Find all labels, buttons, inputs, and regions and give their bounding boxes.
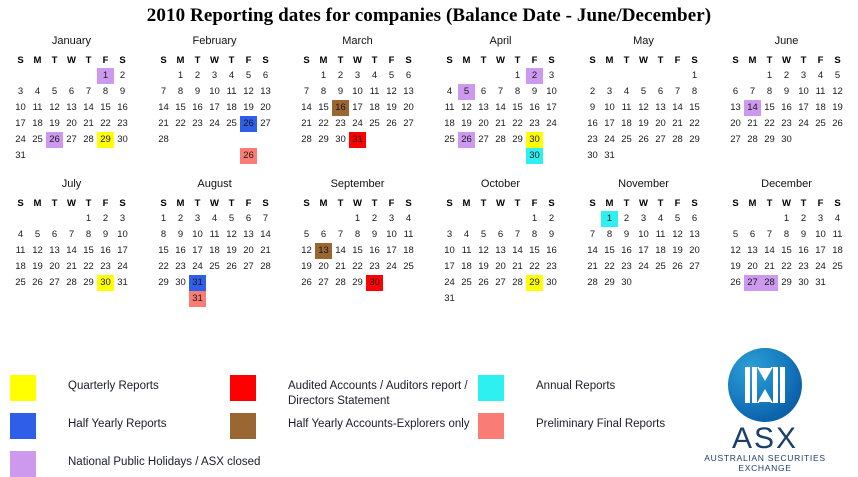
day-cell: 15: [761, 100, 778, 116]
day-cell: 22: [526, 259, 543, 275]
day-cell: 12: [727, 243, 744, 259]
legend-swatch-quarterly-icon: [10, 375, 36, 401]
day-cell: 20: [315, 259, 332, 275]
weekday-header: T: [332, 53, 349, 68]
day-cell: 29: [686, 132, 703, 148]
day-cell: 6: [652, 84, 669, 100]
day-cell: 20: [744, 259, 761, 275]
day-cell: 19: [223, 243, 240, 259]
empty-cell: [240, 275, 257, 291]
week-row: 18192021222324: [441, 116, 560, 132]
week-row: 123: [12, 211, 131, 227]
weekday-header: T: [652, 196, 669, 211]
day-cell: 18: [618, 116, 635, 132]
weekday-header-row: SMTWTFS: [727, 196, 846, 211]
day-cell: 2: [584, 84, 601, 100]
day-cell: 31: [12, 148, 29, 164]
legend-item-holidays: National Public Holidays / ASX closed: [10, 451, 260, 477]
day-cell: 12: [829, 84, 846, 100]
weekday-header: T: [332, 196, 349, 211]
day-cell: 18: [652, 243, 669, 259]
day-cell: 2: [172, 211, 189, 227]
weekday-header-row: SMTWTFS: [584, 53, 703, 68]
day-cell: 26: [298, 275, 315, 291]
day-cell: 24: [206, 116, 223, 132]
day-cell: 8: [509, 84, 526, 100]
empty-cell: [601, 68, 618, 84]
week-row: 78910111213: [298, 84, 417, 100]
empty-cell: [172, 291, 189, 307]
day-cell: 9: [114, 84, 131, 100]
empty-cell: [223, 275, 240, 291]
empty-cell: [744, 211, 761, 227]
legend-item-explorers: Half Yearly Accounts-Explorers only: [230, 413, 470, 439]
empty-cell: [526, 291, 543, 307]
day-cell: 1: [778, 211, 795, 227]
weekday-header: W: [349, 53, 366, 68]
month-name: May: [572, 35, 715, 48]
day-cell: 11: [441, 100, 458, 116]
weekday-header: S: [543, 196, 560, 211]
week-row: 1234: [298, 211, 417, 227]
week-row: 282930: [584, 275, 703, 291]
weekday-header: T: [223, 53, 240, 68]
weekday-header-row: SMTWTFS: [298, 53, 417, 68]
day-cell: 24: [812, 259, 829, 275]
weekday-header: T: [761, 53, 778, 68]
empty-cell: [475, 148, 492, 164]
day-cell: 11: [12, 243, 29, 259]
day-cell: 20: [686, 243, 703, 259]
asx-circle-icon: [728, 348, 802, 422]
weekday-header: T: [46, 53, 63, 68]
day-cell: 21: [332, 259, 349, 275]
legend-label-half-yearly: Half Yearly Reports: [68, 413, 166, 432]
day-cell: 24: [635, 259, 652, 275]
day-cell: 16: [97, 243, 114, 259]
day-cell: 31: [601, 148, 618, 164]
day-cell: 21: [492, 116, 509, 132]
week-row: 31: [441, 291, 560, 307]
day-cell: 5: [46, 84, 63, 100]
day-cell: 30: [778, 132, 795, 148]
empty-cell: [206, 132, 223, 148]
day-cell: 10: [441, 243, 458, 259]
legend-item-audited: Audited Accounts / Auditors report / Dir…: [230, 375, 468, 409]
week-row: 18192021222324: [12, 259, 131, 275]
weekday-header: M: [29, 53, 46, 68]
day-cell: 28: [669, 132, 686, 148]
week-row: 14151617181920: [584, 243, 703, 259]
day-cell: 4: [441, 84, 458, 100]
week-row: 10111213141516: [441, 243, 560, 259]
day-cell: 16: [114, 100, 131, 116]
legend-swatch-holidays-icon: [10, 451, 36, 477]
day-cell: 28: [509, 275, 526, 291]
day-cell-highlighted: 30: [97, 275, 114, 291]
day-cell: 6: [744, 227, 761, 243]
month-table: SMTWTFS 12345678910111213141516171819202…: [584, 196, 703, 291]
day-cell: 26: [383, 116, 400, 132]
empty-cell: [298, 211, 315, 227]
day-cell: 14: [492, 100, 509, 116]
page-title: 2010 Reporting dates for companies (Bala…: [0, 0, 858, 27]
day-cell: 29: [601, 275, 618, 291]
weekday-header: T: [652, 53, 669, 68]
annotation-row: 31: [155, 291, 274, 307]
day-cell: 28: [298, 132, 315, 148]
week-row: 21222324252627: [584, 259, 703, 275]
day-cell: 24: [189, 259, 206, 275]
week-row: 123: [441, 68, 560, 84]
calendar-row-first-half: JanuarySMTWTFS 1234567891011121314151617…: [0, 35, 858, 164]
day-cell: 27: [63, 132, 80, 148]
day-cell: 19: [475, 259, 492, 275]
day-cell: 19: [240, 100, 257, 116]
empty-cell: [618, 148, 635, 164]
day-cell: 23: [526, 116, 543, 132]
week-row: 24252627282930: [12, 132, 131, 148]
day-cell: 13: [744, 243, 761, 259]
day-cell: 14: [298, 100, 315, 116]
day-cell-highlighted: 26: [240, 116, 257, 132]
day-cell: 8: [761, 84, 778, 100]
day-cell: 4: [458, 227, 475, 243]
day-cell: 16: [526, 100, 543, 116]
month-table: SMTWTFS123456789101112131415161718192021…: [155, 196, 274, 307]
day-cell: 23: [97, 259, 114, 275]
empty-cell: [155, 68, 172, 84]
day-cell: 5: [298, 227, 315, 243]
week-row: 24252627282930: [441, 275, 560, 291]
day-cell-highlighted: 30: [526, 132, 543, 148]
day-cell: 9: [526, 84, 543, 100]
day-cell: 10: [114, 227, 131, 243]
week-row: 14151617181920: [155, 100, 274, 116]
day-cell: 22: [601, 259, 618, 275]
month-table: SMTWTFS 12345678910111213141516171819202…: [584, 53, 703, 164]
week-row: 3456789: [12, 84, 131, 100]
legend-item-annual: Annual Reports: [478, 375, 615, 401]
day-cell: 23: [795, 259, 812, 275]
day-cell: 12: [223, 227, 240, 243]
day-cell: 19: [727, 259, 744, 275]
day-cell: 26: [727, 275, 744, 291]
day-cell: 22: [686, 116, 703, 132]
empty-cell: [584, 68, 601, 84]
day-cell: 31: [114, 275, 131, 291]
weekday-header: S: [400, 196, 417, 211]
empty-cell: [618, 68, 635, 84]
day-cell: 24: [543, 116, 560, 132]
day-cell: 11: [829, 227, 846, 243]
day-cell: 17: [349, 100, 366, 116]
month-name: October: [429, 178, 572, 191]
day-cell: 30: [795, 275, 812, 291]
week-row: 567891011: [298, 227, 417, 243]
day-cell: 25: [223, 116, 240, 132]
weekday-header: T: [189, 53, 206, 68]
day-cell: 27: [240, 259, 257, 275]
day-cell-highlighted: 27: [744, 275, 761, 291]
day-cell: 11: [618, 100, 635, 116]
week-row: 2627282930: [298, 275, 417, 291]
weekday-header: W: [349, 196, 366, 211]
day-cell: 20: [257, 100, 274, 116]
week-row: 12345: [727, 68, 846, 84]
legend-label-annual: Annual Reports: [536, 375, 615, 394]
week-row: 123456: [155, 68, 274, 84]
day-cell: 9: [618, 227, 635, 243]
day-cell: 28: [80, 132, 97, 148]
day-cell: 25: [29, 132, 46, 148]
day-cell: 15: [172, 100, 189, 116]
day-cell: 24: [114, 259, 131, 275]
day-cell: 25: [12, 275, 29, 291]
day-cell: 19: [458, 116, 475, 132]
weekday-header: T: [761, 196, 778, 211]
weekday-header: F: [812, 53, 829, 68]
week-row: 10111213141516: [12, 100, 131, 116]
day-cell: 8: [172, 84, 189, 100]
month-table: SMTWTFS 12345678910111213141516171819202…: [727, 53, 846, 148]
week-row: 45678910: [441, 84, 560, 100]
empty-cell: [829, 275, 846, 291]
day-cell: 3: [383, 211, 400, 227]
day-cell: 2: [97, 211, 114, 227]
weekday-header: S: [584, 196, 601, 211]
empty-cell: [240, 291, 257, 307]
day-cell: 12: [240, 84, 257, 100]
day-cell: 5: [669, 211, 686, 227]
empty-cell: [155, 148, 172, 164]
month-table: SMTWTFS 12345678910111213141516171819202…: [441, 53, 560, 164]
legend-item-quarterly: Quarterly Reports: [10, 375, 159, 401]
day-cell: 7: [744, 84, 761, 100]
day-cell: 8: [778, 227, 795, 243]
day-cell: 26: [29, 275, 46, 291]
weekday-header: M: [744, 196, 761, 211]
weekday-header: F: [383, 196, 400, 211]
empty-cell: [29, 148, 46, 164]
month-august: AugustSMTWTFS123456789101112131415161718…: [143, 178, 286, 307]
day-cell: 23: [366, 259, 383, 275]
day-cell: 31: [812, 275, 829, 291]
day-cell: 15: [80, 243, 97, 259]
day-cell-highlighted: 16: [332, 100, 349, 116]
day-cell: 13: [63, 100, 80, 116]
day-cell: 7: [298, 84, 315, 100]
day-cell: 3: [441, 227, 458, 243]
day-cell: 1: [155, 211, 172, 227]
day-cell: 25: [458, 275, 475, 291]
day-cell: 20: [46, 259, 63, 275]
day-cell: 21: [669, 116, 686, 132]
day-cell: 8: [526, 227, 543, 243]
day-cell: 14: [80, 100, 97, 116]
empty-cell: [635, 68, 652, 84]
weekday-header: W: [492, 196, 509, 211]
month-table: SMTWTFS 12345678910111213141516171819202…: [727, 196, 846, 291]
empty-cell: [46, 148, 63, 164]
week-row: 12: [12, 68, 131, 84]
empty-cell: [761, 211, 778, 227]
day-cell: 27: [475, 132, 492, 148]
week-row: 28293031: [298, 132, 417, 148]
empty-cell: [63, 68, 80, 84]
month-table: SMTWTFS 12345678910111213141516171819202…: [12, 53, 131, 164]
annotation-row: 30: [441, 148, 560, 164]
empty-cell: [635, 275, 652, 291]
empty-cell: [46, 68, 63, 84]
day-cell: 5: [829, 68, 846, 84]
day-cell: 19: [669, 243, 686, 259]
day-cell: 2: [332, 68, 349, 84]
weekday-header: W: [778, 196, 795, 211]
empty-cell: [172, 148, 189, 164]
day-cell: 25: [206, 259, 223, 275]
annotation-row: 26: [155, 148, 274, 164]
day-cell: 28: [492, 132, 509, 148]
day-cell-highlighted: 31: [349, 132, 366, 148]
day-cell: 6: [475, 84, 492, 100]
week-row: 31: [12, 148, 131, 164]
day-cell: 20: [727, 116, 744, 132]
day-cell: 23: [584, 132, 601, 148]
day-cell: 30: [618, 275, 635, 291]
day-cell-highlighted: 14: [744, 100, 761, 116]
day-cell: 31: [441, 291, 458, 307]
day-cell: 2: [543, 211, 560, 227]
week-row: 21222324252627: [298, 116, 417, 132]
day-cell: 21: [744, 116, 761, 132]
weekday-header: S: [686, 196, 703, 211]
day-cell: 23: [332, 116, 349, 132]
day-cell: 22: [155, 259, 172, 275]
weekday-header: T: [618, 196, 635, 211]
day-cell: 19: [383, 100, 400, 116]
week-row: 27282930: [727, 132, 846, 148]
weekday-header: W: [635, 196, 652, 211]
empty-cell: [257, 275, 274, 291]
day-cell: 2: [366, 211, 383, 227]
month-name: July: [0, 178, 143, 191]
month-november: NovemberSMTWTFS 123456789101112131415161…: [572, 178, 715, 307]
weekday-header-row: SMTWTFS: [155, 53, 274, 68]
empty-cell: [366, 132, 383, 148]
weekday-header: S: [584, 53, 601, 68]
month-name: June: [715, 35, 858, 48]
day-cell: 18: [441, 116, 458, 132]
day-cell: 2: [618, 211, 635, 227]
weekday-header-row: SMTWTFS: [12, 53, 131, 68]
week-row: 20212223242526: [727, 116, 846, 132]
empty-cell: [441, 68, 458, 84]
day-cell: 7: [257, 211, 274, 227]
legend-label-preliminary: Preliminary Final Reports: [536, 413, 665, 432]
weekday-header: S: [829, 196, 846, 211]
day-cell: 30: [543, 275, 560, 291]
day-cell: 13: [652, 100, 669, 116]
day-cell: 9: [795, 227, 812, 243]
empty-cell: [509, 211, 526, 227]
day-cell: 10: [543, 84, 560, 100]
empty-cell: [669, 68, 686, 84]
day-cell: 6: [257, 68, 274, 84]
day-cell: 28: [332, 275, 349, 291]
weekday-header: S: [12, 53, 29, 68]
day-cell: 7: [332, 227, 349, 243]
month-table: SMTWTFS 12345678910111213141516171819202…: [12, 196, 131, 291]
empty-cell: [492, 68, 509, 84]
day-cell: 10: [812, 227, 829, 243]
day-cell: 12: [475, 243, 492, 259]
day-cell: 14: [332, 243, 349, 259]
asx-tagline: AUSTRALIAN SECURITIES EXCHANGE: [690, 453, 840, 473]
day-cell: 15: [315, 100, 332, 116]
legend-label-explorers: Half Yearly Accounts-Explorers only: [288, 413, 470, 432]
empty-cell: [652, 148, 669, 164]
weekday-header: S: [155, 196, 172, 211]
day-cell-highlighted: 26: [240, 148, 257, 164]
week-row: 12131415161718: [298, 243, 417, 259]
weekday-header: T: [223, 196, 240, 211]
day-cell: 1: [172, 68, 189, 84]
day-cell: 23: [618, 259, 635, 275]
calendar-row-second-half: JulySMTWTFS 1234567891011121314151617181…: [0, 178, 858, 307]
month-february: FebruarySMTWTFS 123456789101112131415161…: [143, 35, 286, 164]
day-cell: 15: [778, 243, 795, 259]
day-cell: 9: [543, 227, 560, 243]
day-cell: 10: [349, 84, 366, 100]
day-cell: 7: [492, 84, 509, 100]
day-cell: 19: [298, 259, 315, 275]
weekday-header: T: [189, 196, 206, 211]
month-name: December: [715, 178, 858, 191]
day-cell: 29: [761, 132, 778, 148]
day-cell: 8: [80, 227, 97, 243]
day-cell: 17: [441, 259, 458, 275]
day-cell: 12: [383, 84, 400, 100]
week-row: 21222324252627: [155, 116, 274, 132]
week-row: 12: [441, 211, 560, 227]
day-cell: 15: [155, 243, 172, 259]
week-row: 28: [155, 132, 274, 148]
day-cell: 6: [240, 211, 257, 227]
day-cell: 24: [441, 275, 458, 291]
day-cell: 3: [206, 68, 223, 84]
day-cell: 23: [189, 116, 206, 132]
empty-cell: [458, 211, 475, 227]
empty-cell: [257, 132, 274, 148]
day-cell: 12: [635, 100, 652, 116]
day-cell: 6: [727, 84, 744, 100]
day-cell: 29: [80, 275, 97, 291]
day-cell: 7: [669, 84, 686, 100]
day-cell: 21: [509, 259, 526, 275]
day-cell: 1: [761, 68, 778, 84]
empty-cell: [80, 148, 97, 164]
month-july: JulySMTWTFS 1234567891011121314151617181…: [0, 178, 143, 307]
day-cell: 5: [635, 84, 652, 100]
day-cell: 4: [223, 68, 240, 84]
day-cell: 6: [686, 211, 703, 227]
month-april: AprilSMTWTFS 123456789101112131415161718…: [429, 35, 572, 164]
weekday-header: S: [257, 53, 274, 68]
day-cell: 17: [635, 243, 652, 259]
day-cell: 28: [63, 275, 80, 291]
day-cell: 1: [686, 68, 703, 84]
